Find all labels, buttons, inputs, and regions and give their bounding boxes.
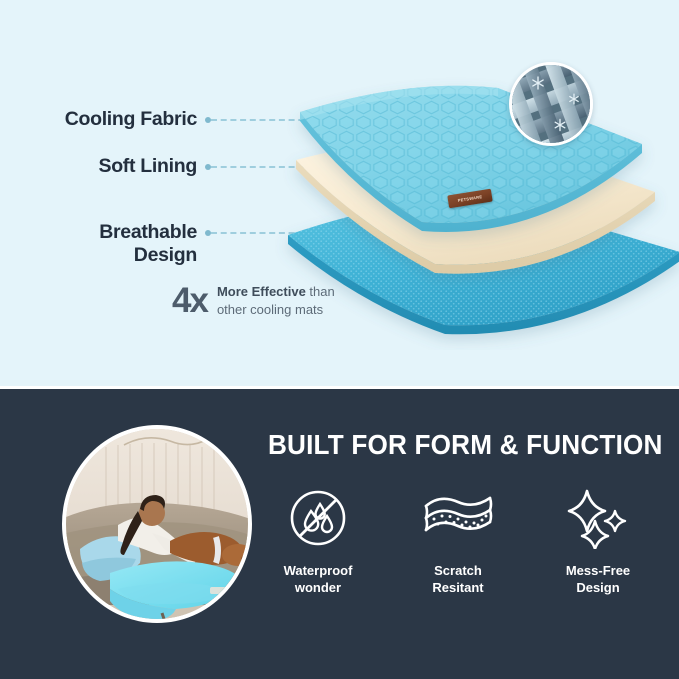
feature-label: Waterproof wonder <box>284 563 353 596</box>
section-headline: BUILT FOR FORM & FUNCTION <box>268 429 646 461</box>
feature-label: Mess-Free Design <box>566 563 630 596</box>
product-layer-illustration: PETSWARE <box>270 40 679 350</box>
feature-mess-free: Mess-Free Design <box>538 485 658 596</box>
effectiveness-multiplier: 4x <box>172 283 207 318</box>
feature-label: Scratch Resitant <box>432 563 483 596</box>
top-section: Cooling Fabric Soft Lining Breathable De… <box>0 0 679 386</box>
lifestyle-photo <box>62 425 252 623</box>
product-infographic: Cooling Fabric Soft Lining Breathable De… <box>0 0 679 679</box>
feature-scratch-resistant: Scratch Resitant <box>398 485 518 596</box>
waterproof-droplet-icon <box>287 485 349 551</box>
callout-label: Soft Lining <box>7 155 197 178</box>
brand-label-text: PETSWARE <box>457 194 482 203</box>
sparkles-icon <box>565 485 631 551</box>
callout-label: Breathable Design <box>7 221 197 267</box>
callout-label: Cooling Fabric <box>7 108 197 131</box>
feature-waterproof: Waterproof wonder <box>258 485 378 596</box>
fabric-weave-inset <box>509 62 593 146</box>
bottom-section: BUILT FOR FORM & FUNCTION Waterproof won… <box>0 389 679 679</box>
wavy-fabric-icon <box>420 485 496 551</box>
feature-list: Waterproof wonder <box>258 485 658 596</box>
